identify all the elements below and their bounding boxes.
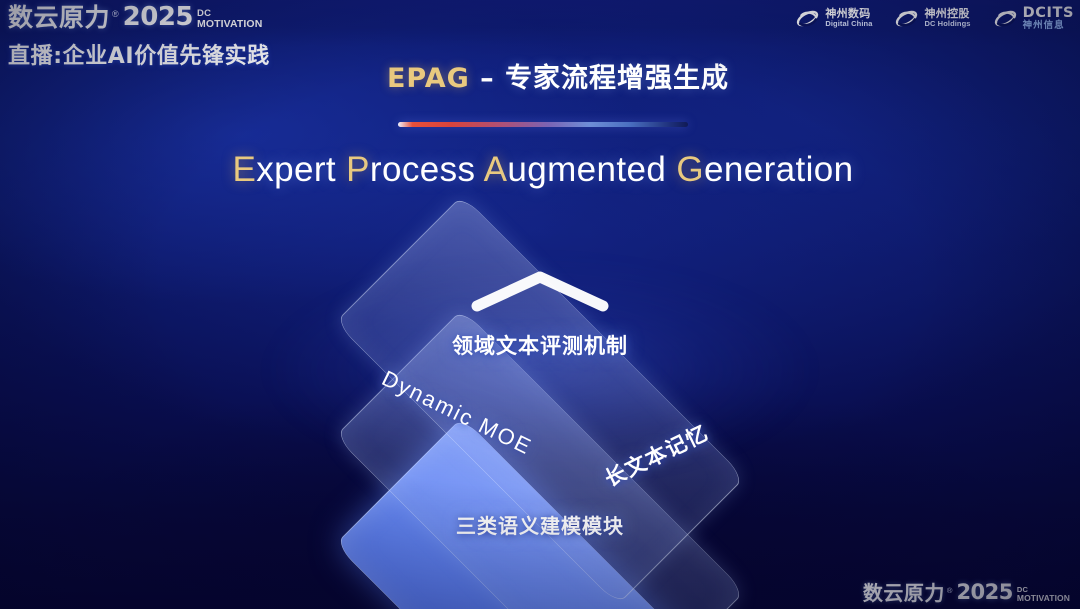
subtitle-part-0: E (232, 150, 256, 189)
subtitle-part-5: ugmented (507, 150, 676, 189)
title-dash: – (470, 63, 505, 94)
slide-canvas: 数云原力 ® 2025 DC MOTIVATION 直播:企业AI价值先锋实践 … (0, 0, 1080, 609)
partner-name-en: Digital China (825, 20, 872, 28)
brand-dc-line2: MOTIVATION (197, 19, 262, 30)
diagram-label-bottom: 三类语义建模模块 (456, 510, 624, 539)
partner-text: 神州控股 DC Holdings (924, 8, 970, 29)
brand-year: 2025 (123, 4, 193, 30)
partner-name-en: 神州信息 (1023, 21, 1074, 32)
subtitle-part-4: A (484, 150, 508, 189)
subtitle-part-1: xpert (256, 150, 346, 189)
subtitle-part-6: G (676, 150, 704, 189)
slide-title: EPAG – 专家流程增强生成 (0, 56, 1080, 95)
watermark-dc-motivation: DC MOTIVATION (1017, 586, 1070, 602)
subtitle-part-3: rocess (370, 150, 484, 189)
partner-text: 神州数码 Digital China (825, 8, 872, 29)
partner-name-cn: DCITS (1023, 5, 1074, 21)
slide-subtitle: Expert Process Augmented Generation (0, 150, 1080, 190)
swirl-logo-icon (894, 6, 919, 31)
brand-logo: 数云原力 ® 2025 DC MOTIVATION (8, 4, 270, 30)
watermark-name-cn: 数云原力 (863, 583, 945, 603)
partner-logo-digital-china: 神州数码 Digital China (795, 6, 872, 31)
title-divider (398, 122, 688, 127)
watermark-registered-mark: ® (947, 587, 953, 595)
title-chinese: 专家流程增强生成 (505, 63, 729, 94)
diagram-label-top: 领域文本评测机制 (452, 330, 628, 360)
partner-logo-dcits: DCITS 神州信息 (993, 5, 1074, 32)
brand-dc-motivation: DC MOTIVATION (197, 9, 262, 29)
subtitle-part-2: P (346, 150, 370, 189)
title-acronym: EPAG (387, 63, 470, 94)
partner-logo-dc-holdings: 神州控股 DC Holdings (894, 6, 970, 31)
brand-name-cn: 数云原力 (8, 5, 110, 30)
partner-logo-row: 神州数码 Digital China 神州控股 DC Holdings (795, 5, 1074, 32)
registered-mark: ® (112, 10, 119, 19)
footer-watermark-logo: 数云原力 ® 2025 DC MOTIVATION (863, 582, 1070, 603)
chevron-up-icon (465, 268, 615, 314)
swirl-logo-icon (795, 6, 820, 31)
partner-text: DCITS 神州信息 (1023, 5, 1074, 32)
watermark-year: 2025 (956, 582, 1012, 603)
watermark-dc-line2: MOTIVATION (1017, 594, 1070, 603)
swirl-logo-icon (993, 6, 1018, 31)
partner-name-en: DC Holdings (924, 20, 970, 28)
subtitle-part-7: eneration (704, 150, 854, 189)
